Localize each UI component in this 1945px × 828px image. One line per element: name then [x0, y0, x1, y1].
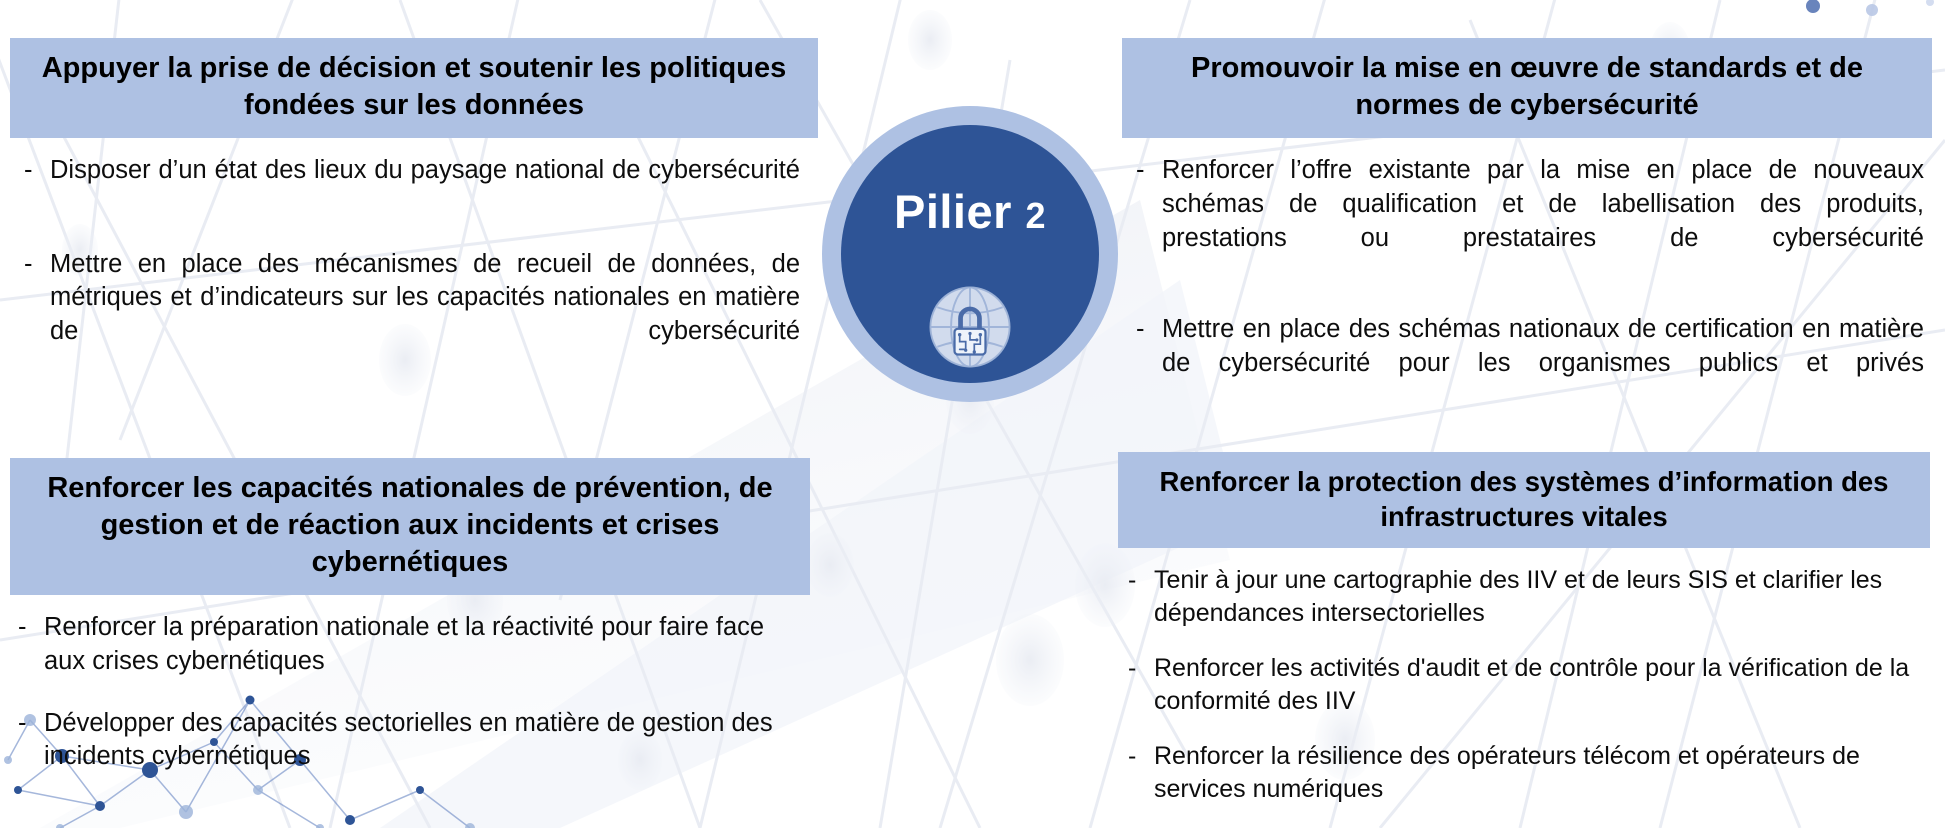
bullet-dash: - [18, 611, 44, 645]
list-item: - Renforcer la préparation nationale et … [18, 611, 792, 678]
bullet-dash: - [1128, 564, 1154, 597]
list-item-text: Développer des capacités sectorielles en… [44, 707, 792, 774]
list-item: - Renforcer la résilience des opérateurs… [1128, 740, 1922, 806]
list-item-text: Renforcer les activités d'audit et de co… [1154, 652, 1922, 718]
quadrant-bottom-left-body: - Renforcer la préparation nationale et … [10, 595, 810, 774]
list-item-text: Renforcer la préparation nationale et la… [44, 611, 792, 678]
quadrant-bottom-right: Renforcer la protection des systèmes d’i… [1118, 452, 1930, 806]
list-item: - Mettre en place des schémas nationaux … [1136, 313, 1924, 414]
list-item: - Renforcer l’offre existante par la mis… [1136, 154, 1924, 289]
list-item: - Développer des capacités sectorielles … [18, 707, 792, 774]
list-item-text: Tenir à jour une cartographie des IIV et… [1154, 564, 1922, 630]
quadrant-bottom-right-header: Renforcer la protection des systèmes d’i… [1118, 452, 1930, 548]
pilier-medallion: Pilier 2 [822, 106, 1118, 402]
quadrant-bottom-left: Renforcer les capacités nationales de pr… [10, 458, 810, 774]
dots-top-right [1806, 0, 1934, 16]
list-item: - Disposer d’un état des lieux du paysag… [24, 154, 800, 221]
list-item: - Mettre en place des mécanismes de recu… [24, 248, 800, 383]
quadrant-top-left-body: - Disposer d’un état des lieux du paysag… [10, 138, 818, 382]
bullet-dash: - [1128, 740, 1154, 773]
list-item-text: Mettre en place des mécanismes de recuei… [50, 248, 800, 383]
medallion-label: Pilier 2 [822, 184, 1118, 239]
quadrant-bottom-left-header: Renforcer les capacités nationales de pr… [10, 458, 810, 595]
list-item-text: Renforcer la résilience des opérateurs t… [1154, 740, 1922, 806]
list-item-text: Disposer d’un état des lieux du paysage … [50, 154, 800, 221]
bullet-dash: - [24, 154, 50, 188]
bullet-dash: - [24, 248, 50, 282]
bullet-dash: - [1136, 313, 1162, 347]
bullet-dash: - [1128, 652, 1154, 685]
quadrant-top-right-body: - Renforcer l’offre existante par la mis… [1122, 138, 1932, 414]
quadrant-top-right: Promouvoir la mise en œuvre de standards… [1122, 38, 1932, 414]
quadrant-bottom-right-body: - Tenir à jour une cartographie des IIV … [1118, 548, 1930, 806]
quadrant-top-left: Appuyer la prise de décision et soutenir… [10, 38, 818, 382]
bullet-dash: - [18, 707, 44, 741]
bullet-dash: - [1136, 154, 1162, 188]
globe-padlock-icon [927, 284, 1013, 370]
list-item-text: Mettre en place des schémas nationaux de… [1162, 313, 1924, 414]
list-item: - Tenir à jour une cartographie des IIV … [1128, 564, 1922, 630]
medallion-number: 2 [1025, 195, 1046, 236]
medallion-title: Pilier [894, 185, 1012, 238]
list-item-text: Renforcer l’offre existante par la mise … [1162, 154, 1924, 289]
quadrant-top-right-header: Promouvoir la mise en œuvre de standards… [1122, 38, 1932, 138]
slide-canvas: Appuyer la prise de décision et soutenir… [0, 0, 1945, 828]
list-item: - Renforcer les activités d'audit et de … [1128, 652, 1922, 718]
quadrant-top-left-header: Appuyer la prise de décision et soutenir… [10, 38, 818, 138]
